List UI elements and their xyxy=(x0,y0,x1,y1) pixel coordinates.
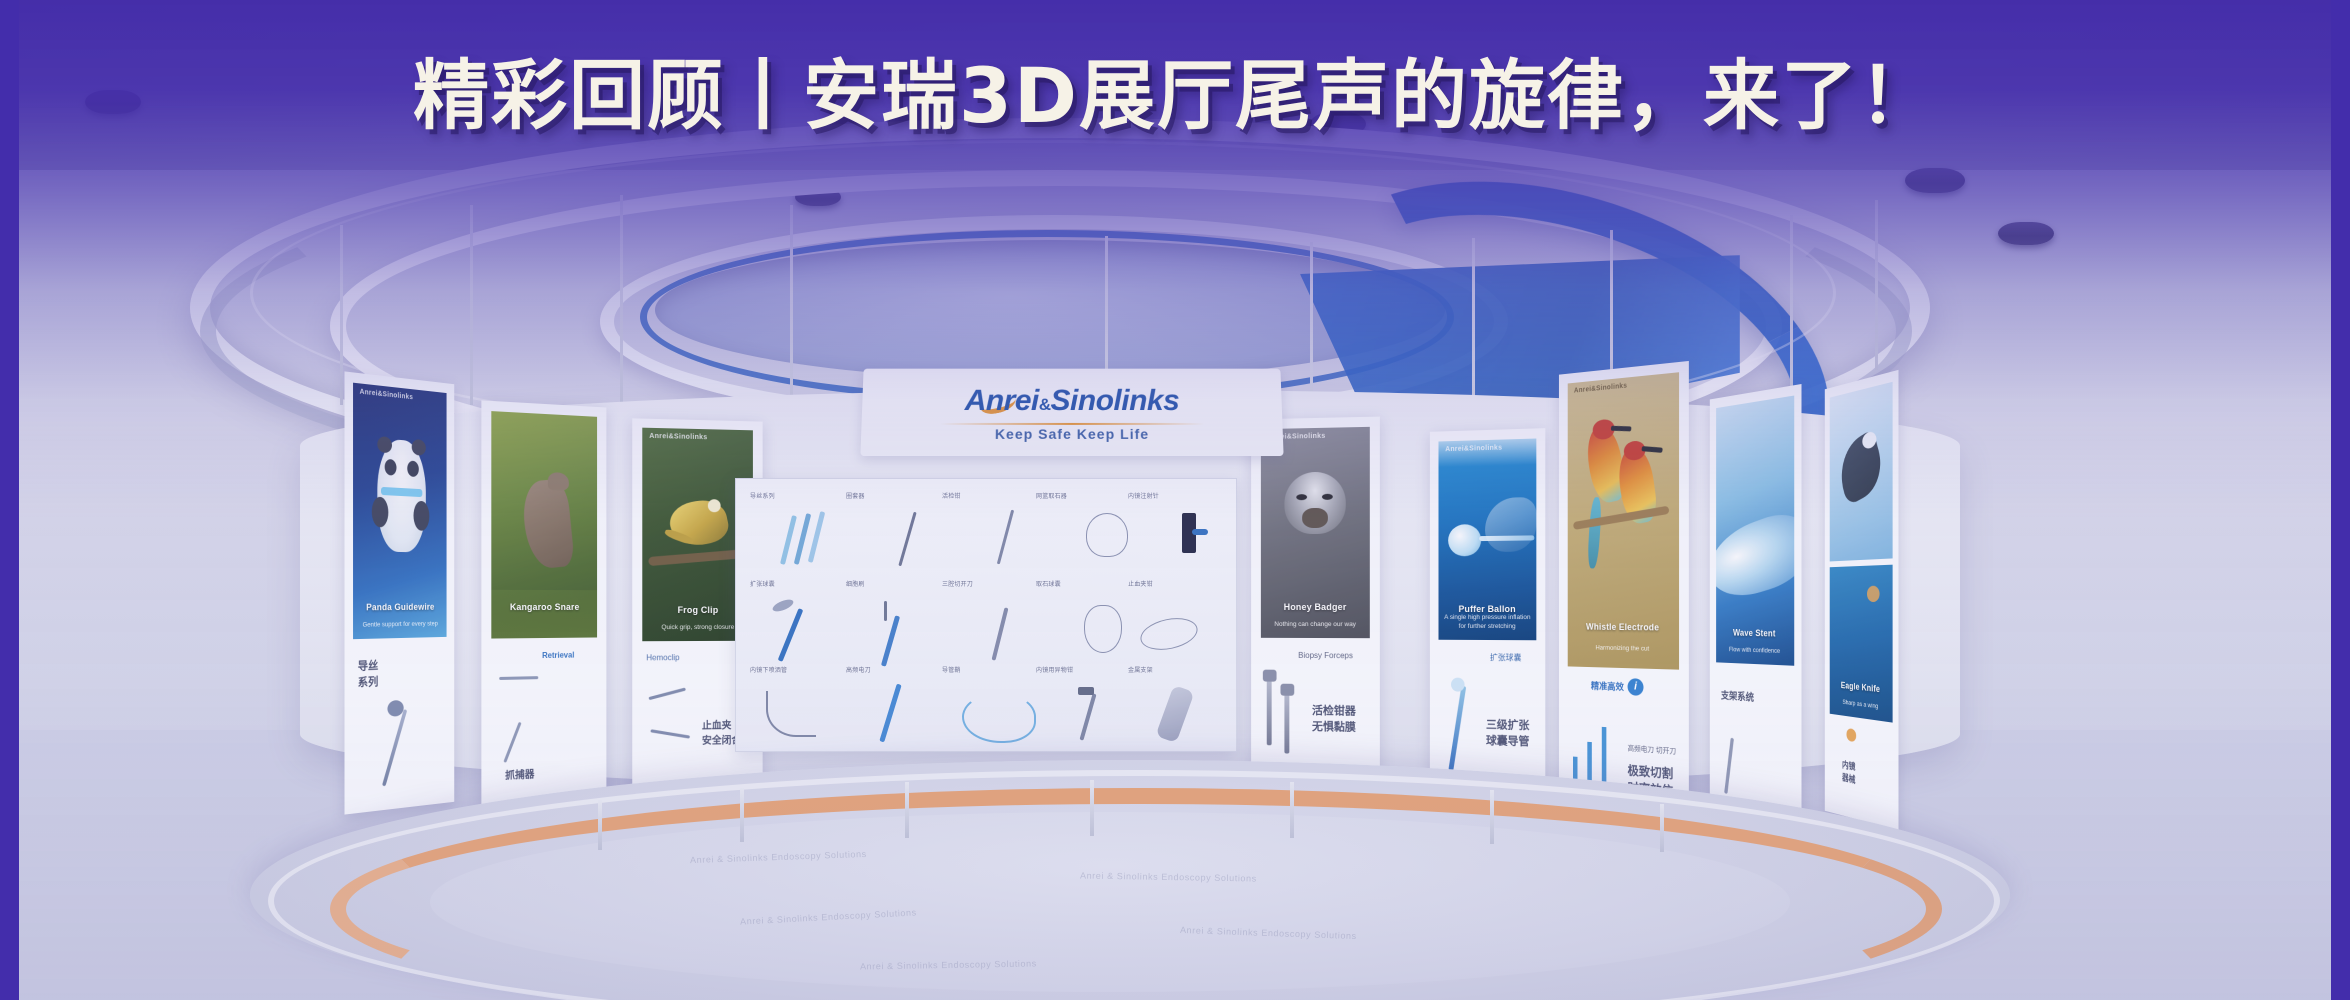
brand-logo-text: Anrei&Sinolinks xyxy=(862,384,1282,418)
grid-cell: 网篮取石器 xyxy=(1036,491,1067,500)
display-panel-bee-eater[interactable]: Anrei&Sinolinks Whistle Electrode Harmon… xyxy=(1559,361,1689,845)
railing-post xyxy=(1090,780,1094,836)
panel-caption-cn: 支架系统 xyxy=(1721,690,1754,707)
grid-cell-label: 导管鞘 xyxy=(942,665,961,674)
grid-cell-label: 扩张球囊 xyxy=(750,579,775,588)
instrument-forceps-jaw xyxy=(1263,670,1277,682)
instrument-brush xyxy=(884,601,887,621)
display-panel-honey-badger[interactable]: Anrei&Sinolinks Honey Badger Nothing can… xyxy=(1251,417,1380,802)
instrument-balloon-tip xyxy=(1451,678,1465,692)
instrument-guidewire xyxy=(898,512,916,567)
poster-eagle-secondary[interactable]: Eagle Knife Sharp as a wing xyxy=(1830,565,1893,723)
display-panel-eagle[interactable]: Eagle Knife Sharp as a wing 内镜 器械 xyxy=(1825,370,1899,830)
display-panel-panda[interactable]: Anrei&Sinolinks Panda Guidewire Gentle s… xyxy=(344,371,454,814)
ceiling-spot-light xyxy=(1905,168,1965,193)
panda-arm xyxy=(413,501,429,531)
poster-puffer-balloon[interactable]: Anrei&Sinolinks Puffer Ballon A single h… xyxy=(1439,439,1537,641)
instrument-catheter xyxy=(808,511,825,563)
hanging-rod xyxy=(470,205,473,405)
grid-cell: 取石球囊 xyxy=(1036,579,1061,588)
grid-cell-label: 细胞刷 xyxy=(846,579,865,588)
poster-subtitle: Quick grip, strong closure xyxy=(646,624,749,633)
grid-cell-label: 内镜用异物钳 xyxy=(1036,665,1073,674)
poster-title: Honey Badger xyxy=(1261,602,1370,612)
info-circle-icon: i xyxy=(1628,678,1644,696)
grid-cell-label: 高频电刀 xyxy=(846,665,871,674)
right-edge-border xyxy=(2331,0,2350,1000)
instrument-forceps-jaw xyxy=(1280,684,1294,696)
poster-panda[interactable]: Anrei&Sinolinks Panda Guidewire Gentle s… xyxy=(353,383,447,639)
poster-honey-badger[interactable]: Anrei&Sinolinks Honey Badger Nothing can… xyxy=(1261,427,1370,638)
kangaroo-silhouette xyxy=(520,478,575,570)
product-grid-panel[interactable]: 导丝系列 圈套器 活检钳 网篮取石器 内镜注射针 扩张球囊 细胞刷 三腔切开刀 … xyxy=(735,478,1237,752)
instrument-connector-blue xyxy=(1192,529,1208,535)
panel-caption-en: Retrieval xyxy=(542,650,574,662)
railing-post xyxy=(1290,782,1294,838)
poster-brand-label: Anrei&Sinolinks xyxy=(1574,382,1627,394)
hanging-rod xyxy=(1875,200,1878,370)
poster-subtitle: Nothing can change our way xyxy=(1265,621,1366,630)
grid-cell: 三腔切开刀 xyxy=(942,579,973,588)
panel-caption-cn: 导丝 系列 xyxy=(358,659,378,692)
instrument-illustration xyxy=(650,729,690,738)
left-edge-border xyxy=(0,0,19,1000)
grid-cell: 扩张球囊 xyxy=(750,579,775,588)
grid-cell: 内镜用异物钳 xyxy=(1036,665,1073,674)
instrument-illustration xyxy=(499,676,538,680)
panel-caption-en: Biopsy Forceps xyxy=(1298,650,1353,662)
info-circle-icon xyxy=(1846,728,1856,742)
hanging-rod xyxy=(620,195,623,410)
instrument-forceps-shaft xyxy=(1267,680,1272,746)
instrument-balloon xyxy=(771,597,795,614)
grid-cell: 导管鞘 xyxy=(942,665,961,674)
bird-tail xyxy=(1587,497,1602,569)
grid-cell-label: 金属支架 xyxy=(1128,665,1153,674)
kangaroo-head xyxy=(548,472,569,491)
instrument-snare-loop xyxy=(1086,513,1128,557)
poster-brand-label: Anrei&Sinolinks xyxy=(360,389,413,402)
instrument-shaft xyxy=(881,615,900,666)
instrument-balloon-catheter xyxy=(1448,686,1466,771)
poster-subtitle: Flow with confidence xyxy=(1719,646,1790,657)
frog-eye xyxy=(708,499,721,512)
brand-badge-row: 精准高效 i xyxy=(1591,677,1644,696)
poster-title: Whistle Electrode xyxy=(1568,622,1679,633)
grid-cell-label: 导丝系列 xyxy=(750,491,775,500)
grass-foreground xyxy=(491,590,597,639)
grid-cell-label: 网篮取石器 xyxy=(1036,491,1067,500)
instrument-probe xyxy=(997,510,1014,565)
frog-illustration xyxy=(666,496,731,551)
balloon-illustration xyxy=(1448,524,1481,556)
grid-cell: 金属支架 xyxy=(1128,665,1153,674)
brand-logo-board: Anrei&Sinolinks Keep Safe Keep Life xyxy=(860,369,1283,456)
grid-cell-label: 活检钳 xyxy=(942,491,961,500)
instrument-metal-stent xyxy=(1155,685,1194,743)
sun-dot xyxy=(1867,586,1880,602)
brand-ampersand: & xyxy=(1039,395,1051,414)
branch xyxy=(648,549,747,566)
poster-subtitle: Sharp as a wing xyxy=(1833,698,1890,714)
brand-name-part2: Sinolinks xyxy=(1051,384,1180,417)
grid-cell: 内镜注射针 xyxy=(1128,491,1159,500)
instrument-knife xyxy=(992,607,1009,660)
platform-inner-floor xyxy=(430,812,1790,992)
instrument-illustration xyxy=(1724,738,1734,794)
poster-title: Eagle Knife xyxy=(1830,679,1893,696)
poster-title: Panda Guidewire xyxy=(353,602,447,613)
grid-cell: 圈套器 xyxy=(846,491,865,500)
instrument-illustration xyxy=(503,722,521,763)
panda-ear xyxy=(377,436,392,453)
poster-title: Kangaroo Snare xyxy=(491,602,597,612)
grid-cell-label: 三腔切开刀 xyxy=(942,579,973,588)
poster-subtitle: A single high pressure inflation for fur… xyxy=(1442,614,1532,632)
panda-ear xyxy=(412,439,426,456)
instrument-spray-tube xyxy=(766,691,816,737)
brand-tagline: Keep Safe Keep Life xyxy=(861,426,1283,442)
panda-eye xyxy=(407,460,419,477)
grid-cell-label: 内镜注射针 xyxy=(1128,491,1159,500)
railing-post xyxy=(1660,804,1664,852)
grid-cell: 高频电刀 xyxy=(846,665,871,674)
hanging-rod xyxy=(1790,215,1793,410)
brand-badge-text: 精准高效 xyxy=(1591,679,1624,693)
panel-caption-en: 扩张球囊 xyxy=(1490,652,1522,664)
water-surface xyxy=(1439,439,1537,468)
grid-cell-label: 圈套器 xyxy=(846,491,865,500)
instrument-shaft xyxy=(778,608,804,662)
poster-brand-label: Anrei&Sinolinks xyxy=(649,433,707,441)
bird-beak xyxy=(1611,426,1632,432)
grid-cell-label: 取石球囊 xyxy=(1036,579,1061,588)
grid-cell: 导丝系列 xyxy=(750,491,775,500)
railing-post xyxy=(740,788,744,842)
poster-subtitle: Harmonizing the cut xyxy=(1571,644,1675,655)
instrument-illustration xyxy=(382,709,407,786)
grid-cell: 内镜下喷洒管 xyxy=(750,665,787,674)
instrument-forceps-shaft xyxy=(1284,694,1289,754)
grid-cell-label: 内镜下喷洒管 xyxy=(750,665,787,674)
instrument-forceps-head xyxy=(1078,687,1094,695)
panel-caption-cn: 内镜 器械 xyxy=(1842,759,1855,788)
poster-subtitle: Gentle support for every step xyxy=(357,621,443,631)
railing-post xyxy=(905,782,909,838)
grid-cell: 止血夹钳 xyxy=(1128,579,1153,588)
panel-caption-en: 高频电刀 切开刀 xyxy=(1628,744,1677,758)
panel-caption-cn: 三级扩张 球囊导管 xyxy=(1486,718,1529,751)
poster-bee-eater[interactable]: Anrei&Sinolinks Whistle Electrode Harmon… xyxy=(1568,372,1679,669)
dolphin-silhouette xyxy=(1485,497,1536,552)
eagle-silhouette xyxy=(1834,429,1888,507)
poster-wave[interactable]: Wave Stent Flow with confidence xyxy=(1716,396,1794,666)
instrument-forceps xyxy=(1079,693,1096,740)
poster-kangaroo[interactable]: Kangaroo Snare xyxy=(491,411,597,638)
panda-arm xyxy=(372,496,389,527)
panel-caption-cn: 活检钳器 无惧黏膜 xyxy=(1312,704,1356,737)
display-panel-kangaroo[interactable]: Kangaroo Snare Retrieval 抓捕器 xyxy=(481,400,606,805)
panel-caption-en: Hemoclip xyxy=(646,652,679,664)
railing-post xyxy=(598,800,602,850)
wave-crest xyxy=(1716,505,1794,606)
panel-caption-cn: 抓捕器 xyxy=(505,769,534,785)
instrument-sheath-curve xyxy=(962,693,1036,743)
badger-snout xyxy=(1302,508,1328,528)
grid-cell: 活检钳 xyxy=(942,491,961,500)
ceiling-spot-light xyxy=(1998,222,2054,245)
exhibition-hall-banner: Anrei&Sinolinks Panda Guidewire Gentle s… xyxy=(0,0,2350,1000)
instrument-clip-loop xyxy=(1138,613,1201,654)
brand-name-part1: Anrei xyxy=(964,384,1038,417)
railing-post xyxy=(1490,790,1494,844)
display-panel-puffer-balloon[interactable]: Anrei&Sinolinks Puffer Ballon A single h… xyxy=(1430,428,1545,794)
poster-eagle[interactable] xyxy=(1830,382,1893,562)
instrument-illustration xyxy=(648,688,685,701)
branch xyxy=(1573,506,1669,530)
poster-title: Puffer Ballon xyxy=(1439,604,1537,614)
instrument-basket xyxy=(1084,605,1122,653)
instrument-hf-knife xyxy=(879,684,901,743)
logo-underline xyxy=(940,423,1205,425)
grid-cell-label: 止血夹钳 xyxy=(1128,579,1153,588)
grid-cell: 细胞刷 xyxy=(846,579,865,588)
poster-title: Wave Stent xyxy=(1716,627,1794,639)
display-panel-wave[interactable]: Wave Stent Flow with confidence 支架系统 xyxy=(1710,384,1802,832)
hanging-rod xyxy=(340,225,343,405)
panda-eye xyxy=(385,459,397,476)
page-title: 精彩回顾丨安瑞3D展厅尾声的旋律，来了！ xyxy=(0,34,2350,144)
